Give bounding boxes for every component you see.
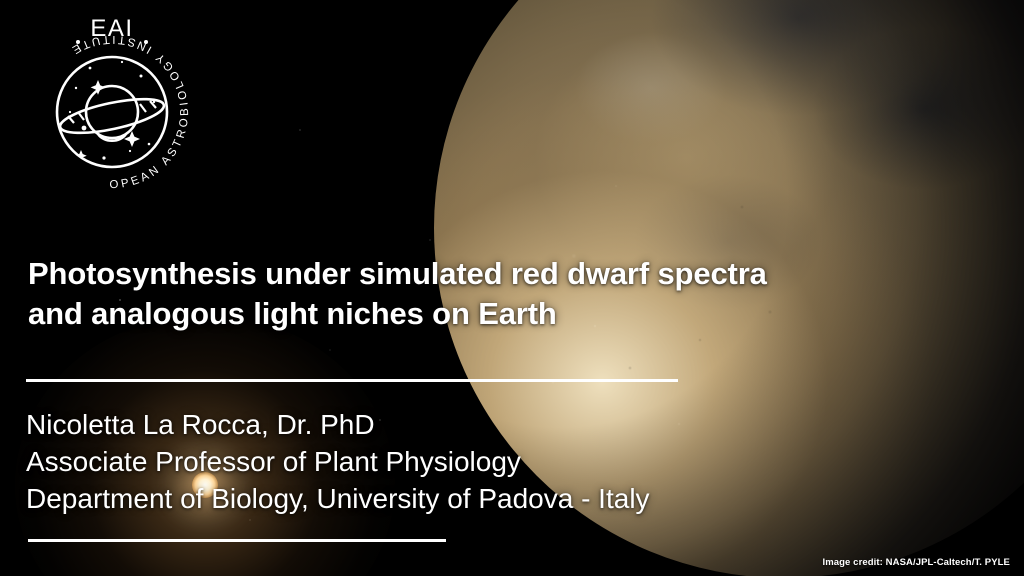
divider-top bbox=[26, 379, 678, 382]
eai-logo: EUROPEAN ASTROBIOLOGY INSTITUTE bbox=[18, 8, 206, 212]
logo-inner-circle bbox=[57, 57, 167, 167]
image-credit: Image credit: NASA/JPL-Caltech/T. PYLE bbox=[822, 557, 1010, 568]
logo-wordmark: EAI bbox=[90, 15, 133, 42]
logo-scene bbox=[57, 61, 166, 161]
slide-title: Photosynthesis under simulated red dwarf… bbox=[28, 254, 1008, 335]
divider-bottom bbox=[28, 539, 446, 542]
logo-planet-ring bbox=[57, 92, 166, 139]
logo-dot-right bbox=[144, 40, 148, 44]
title-slide: EUROPEAN ASTROBIOLOGY INSTITUTE bbox=[0, 0, 1024, 576]
logo-dot-left bbox=[76, 40, 80, 44]
author-affiliation-block: Nicoletta La Rocca, Dr. PhD Associate Pr… bbox=[26, 406, 986, 518]
eai-logo-graphic: EUROPEAN ASTROBIOLOGY INSTITUTE bbox=[18, 8, 206, 212]
